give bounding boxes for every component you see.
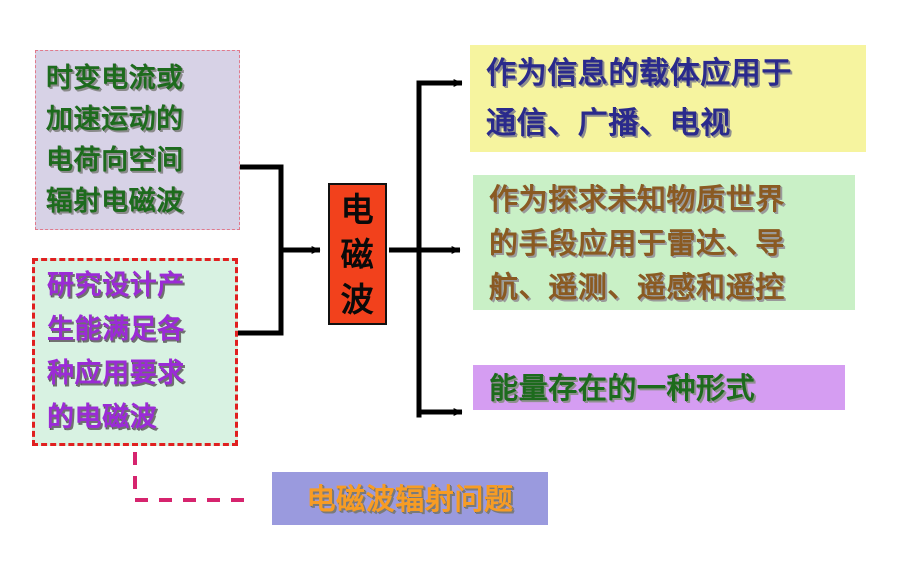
node-info-line-2: 通信、广播、电视 — [486, 99, 866, 149]
node-info-line-1: 作为信息的载体应用于 — [486, 49, 866, 99]
node-explore-line-3: 航、遥测、遥感和遥控 — [489, 265, 855, 309]
node-source-line-4: 辐射电磁波 — [46, 181, 239, 222]
node-source-line-1: 时变电流或 — [46, 58, 239, 99]
node-radiation-problem[interactable]: 电磁波辐射问题 — [272, 472, 548, 525]
node-center-char-1: 电 — [341, 187, 375, 232]
node-explore-line-1: 作为探求未知物质世界 — [489, 177, 855, 221]
node-problem-line-1: 电磁波辐射问题 — [306, 474, 513, 524]
node-explore-unknown-world[interactable]: 作为探求未知物质世界 的手段应用于雷达、导 航、遥测、遥感和遥控 — [473, 175, 855, 310]
node-source-line-2: 加速运动的 — [46, 99, 239, 140]
node-energy-line-1: 能量存在的一种形式 — [489, 366, 845, 410]
node-center-char-2: 磁 — [341, 232, 375, 277]
edge-left-bracket — [240, 167, 320, 333]
node-design-line-1: 研究设计产 — [47, 264, 235, 308]
node-center-char-3: 波 — [341, 277, 375, 322]
diagram-canvas: 时变电流或 加速运动的 电荷向空间 辐射电磁波 研究设计产 生能满足各 种应用要… — [0, 0, 900, 566]
node-design-line-2: 生能满足各 — [47, 308, 235, 352]
node-design-generation[interactable]: 研究设计产 生能满足各 种应用要求 的电磁波 — [32, 258, 238, 446]
node-design-line-4: 的电磁波 — [47, 396, 235, 440]
node-explore-line-2: 的手段应用于雷达、导 — [489, 221, 855, 265]
node-source-line-3: 电荷向空间 — [46, 140, 239, 181]
edge-right-trunk — [389, 83, 462, 415]
node-source-radiation[interactable]: 时变电流或 加速运动的 电荷向空间 辐射电磁波 — [35, 50, 240, 230]
edge-design-to-problem — [135, 452, 250, 500]
node-energy-form[interactable]: 能量存在的一种形式 — [473, 365, 845, 410]
node-information-carrier[interactable]: 作为信息的载体应用于 通信、广播、电视 — [470, 45, 866, 152]
node-electromagnetic-wave[interactable]: 电 磁 波 — [328, 183, 387, 325]
node-design-line-3: 种应用要求 — [47, 352, 235, 396]
